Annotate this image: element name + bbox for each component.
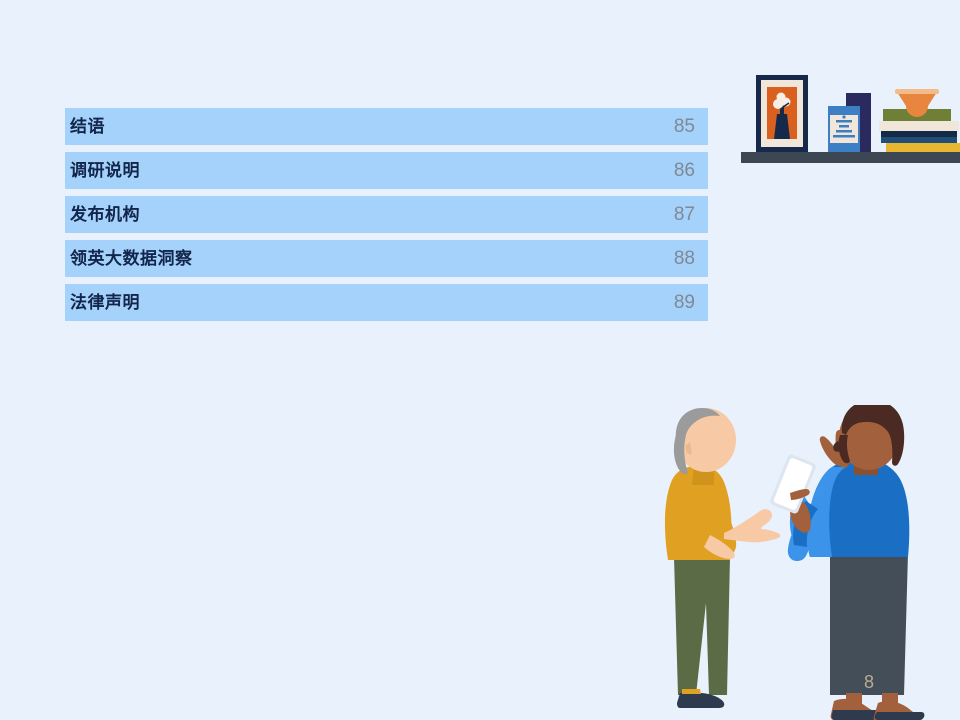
- toc-item-page-number: 86: [674, 161, 698, 181]
- woman-figure: [769, 405, 924, 720]
- toc-item-page-number: 89: [674, 293, 698, 313]
- toc-item-page-number: 87: [674, 205, 698, 225]
- page-number: 8: [864, 672, 874, 693]
- toc-item-label: 法律声明: [70, 294, 140, 312]
- book-blue-cream: [828, 106, 860, 152]
- toc-item-page-number: 85: [674, 117, 698, 137]
- toc-row[interactable]: 法律声明 89: [65, 284, 708, 321]
- toc-item-label: 领英大数据洞察: [70, 250, 193, 268]
- slide-canvas: 结语 85 调研说明 86 发布机构 87 领英大数据洞察 88 法律声明 89: [0, 0, 960, 720]
- toc-item-label: 结语: [70, 118, 105, 136]
- toc-item-label: 发布机构: [70, 206, 140, 224]
- people-conversation-illustration: [650, 405, 960, 720]
- toc-item-label: 调研说明: [70, 162, 140, 180]
- toc-row[interactable]: 领英大数据洞察 88: [65, 240, 708, 277]
- man-figure: [665, 408, 780, 708]
- shelf-board: [741, 152, 960, 163]
- framed-art-icon: [756, 75, 808, 152]
- toc-row[interactable]: 发布机构 87: [65, 196, 708, 233]
- toc-row[interactable]: 调研说明 86: [65, 152, 708, 189]
- bookshelf-illustration: [740, 60, 960, 163]
- table-of-contents: 结语 85 调研说明 86 发布机构 87 领英大数据洞察 88 法律声明 89: [65, 108, 708, 328]
- toc-row[interactable]: 结语 85: [65, 108, 708, 145]
- toc-item-page-number: 88: [674, 249, 698, 269]
